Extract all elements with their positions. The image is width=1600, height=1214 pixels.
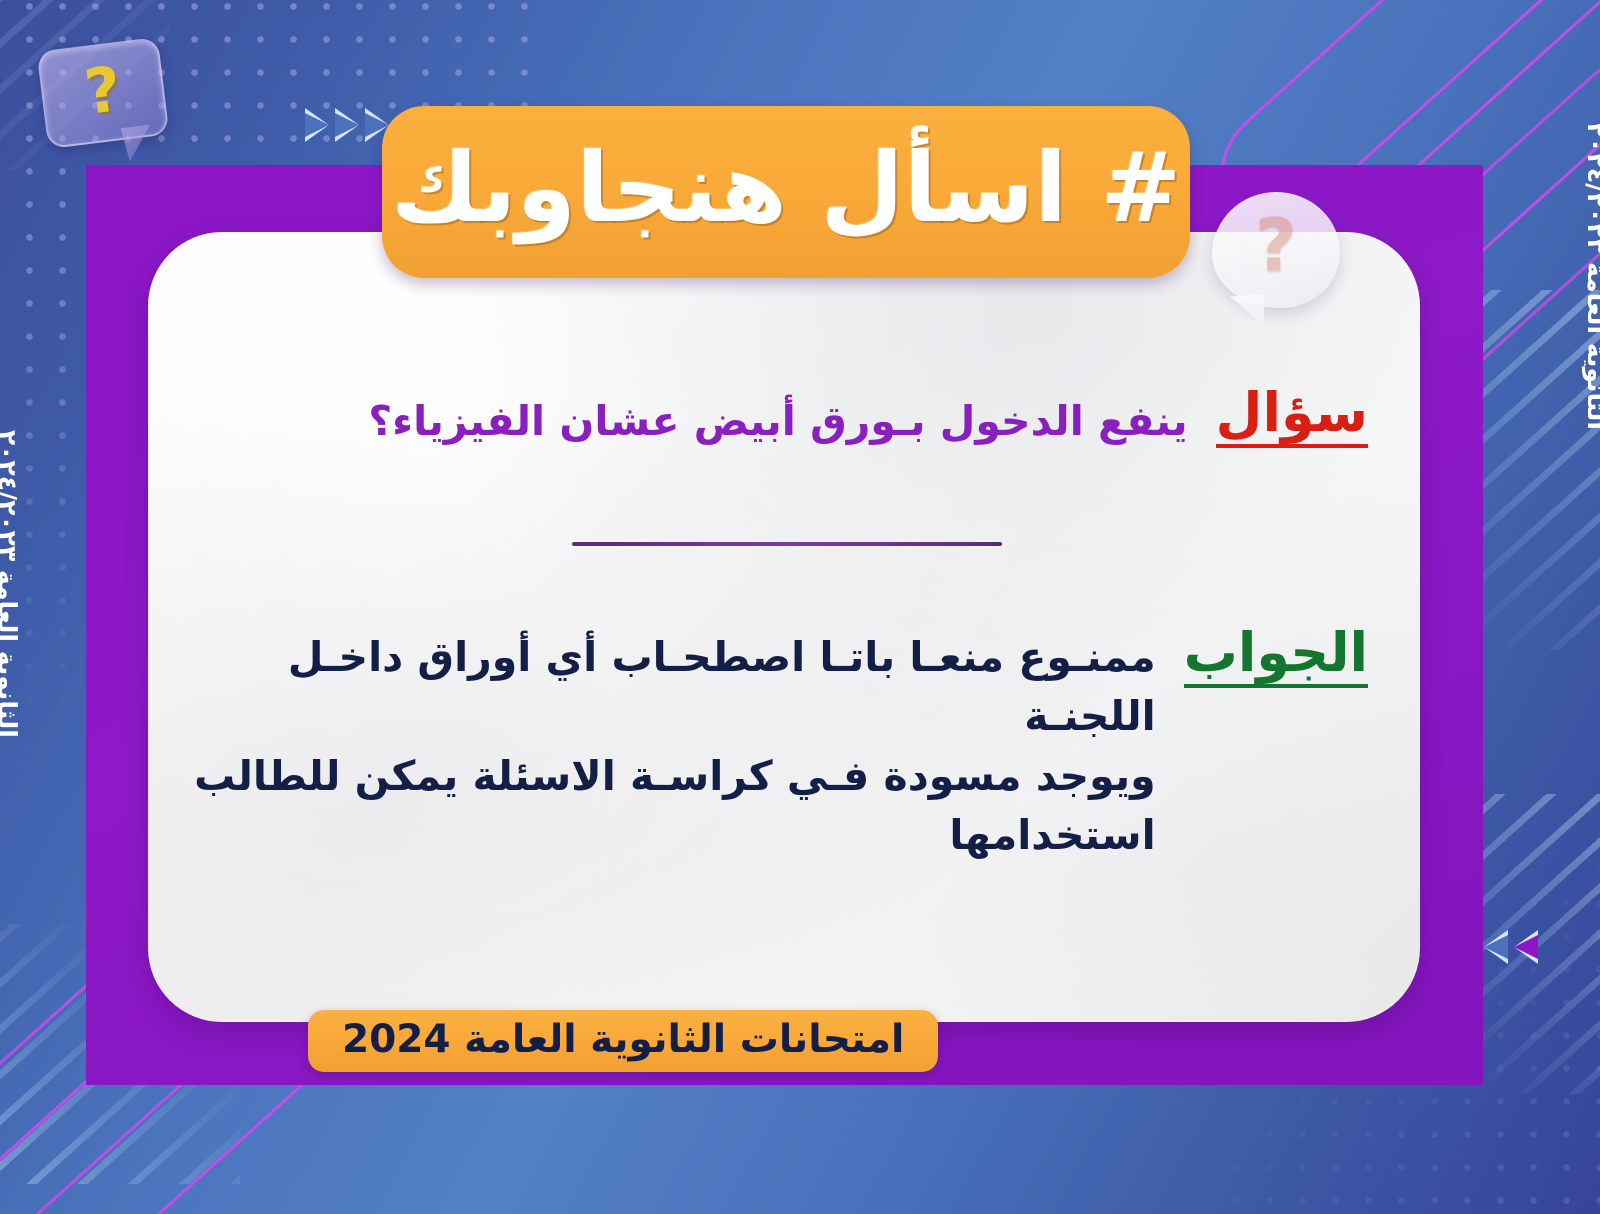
chevron-right-icon (335, 108, 359, 142)
speech-bubble-white-question-icon: ? (1212, 192, 1340, 308)
card-inner: سؤال ينفع الدخول بـورق أبيض عشان الفيزيا… (148, 232, 1420, 1022)
answer-text: ممنـوع منعـا باتـا اصطحـاب أي أوراق داخـ… (178, 624, 1156, 866)
question-text: ينفع الدخول بـورق أبيض عشان الفيزياء؟ (368, 384, 1187, 451)
answer-row: الجواب ممنـوع منعـا باتـا اصطحـاب أي أور… (178, 624, 1368, 866)
question-label: سؤال (1216, 386, 1368, 448)
question-mark-glyph: ? (1212, 192, 1340, 308)
speech-bubble-question-icon: ? (36, 37, 169, 149)
question-mark-glyph: ? (39, 39, 168, 147)
section-divider (572, 542, 1002, 546)
bottom-banner: امتحانات الثانوية العامة 2024 (308, 1010, 938, 1072)
answer-line-1: ممنـوع منعـا باتـا اصطحـاب أي أوراق داخـ… (288, 633, 1156, 740)
side-label-left: الثانوية العامة ٢٠٢٤/٢٠٢٣ (0, 430, 22, 738)
chevron-left-icon (1514, 930, 1538, 964)
header-hashtag-pill: # اسأل هنجاوبك (382, 106, 1190, 278)
content-card: سؤال ينفع الدخول بـورق أبيض عشان الفيزيا… (148, 232, 1420, 1022)
side-label-right: الثانوية العامة ٢٠٢٤/٢٠٢٣ (1582, 122, 1600, 430)
chevron-arrows-right-group (305, 108, 389, 142)
poster-canvas: ? ? سؤال ينفع الدخول بـورق أبيض عشان الف… (0, 0, 1600, 1214)
chevron-left-icon (1484, 930, 1508, 964)
answer-label: الجواب (1184, 626, 1368, 688)
chevron-right-icon (305, 108, 329, 142)
header-title: # اسأل هنجاوبك (391, 140, 1181, 244)
answer-line-2: ويوجد مسودة فـي كراسـة الاسئلة يمكن للطا… (178, 747, 1156, 866)
question-row: سؤال ينفع الدخول بـورق أبيض عشان الفيزيا… (208, 384, 1368, 451)
bottom-banner-text: امتحانات الثانوية العامة 2024 (342, 1020, 904, 1063)
